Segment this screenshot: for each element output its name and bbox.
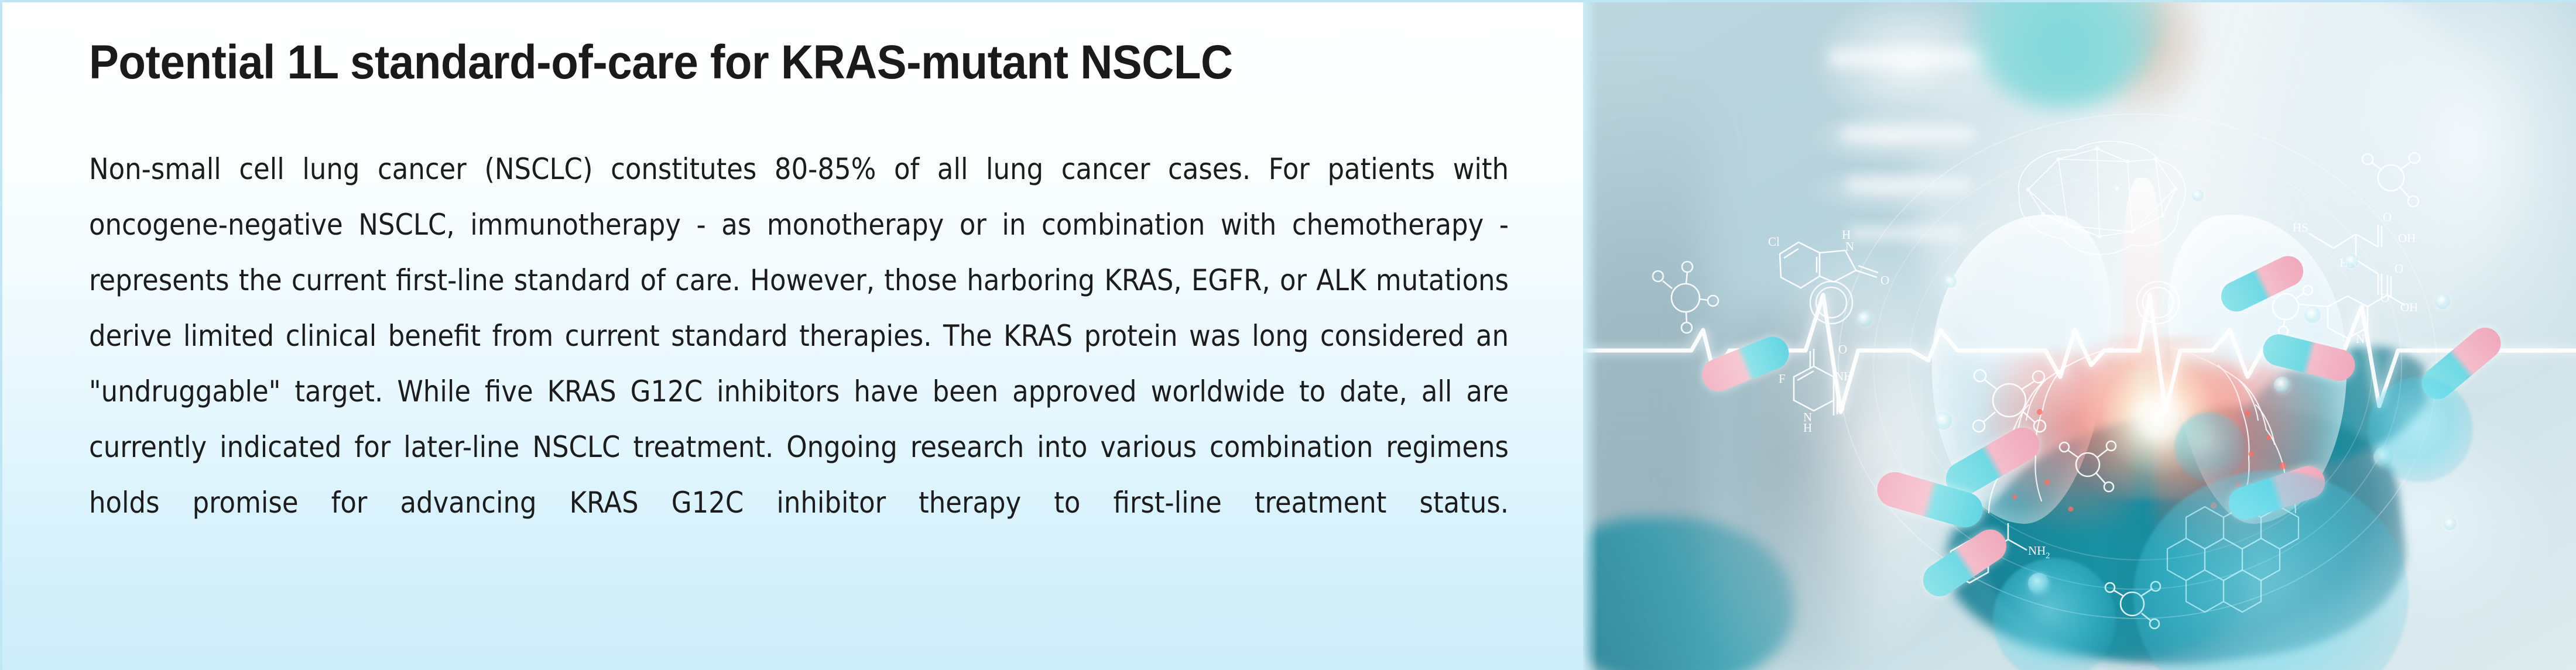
page-title: Potential 1L standard-of-care for KRAS-m… bbox=[89, 39, 1450, 87]
virus-particle bbox=[1857, 311, 1872, 327]
body-paragraph: Non-small cell lung cancer (NSCLC) const… bbox=[89, 142, 1509, 586]
slide-canvas: Potential 1L standard-of-care for KRAS-m… bbox=[0, 0, 2576, 670]
virus-particle bbox=[2444, 517, 2457, 530]
virus-particle bbox=[2192, 190, 2204, 201]
virus-particle-large bbox=[2174, 412, 2245, 482]
virus-particle bbox=[1944, 275, 1957, 288]
virus-particle bbox=[2274, 377, 2290, 393]
virus-particle bbox=[2344, 254, 2358, 268]
virus-particle-large bbox=[2368, 377, 2473, 482]
virus-particles-layer bbox=[1583, 2, 2576, 670]
text-panel: Potential 1L standard-of-care for KRAS-m… bbox=[2, 2, 1583, 670]
virus-particle bbox=[2304, 307, 2321, 323]
virus-particle-large bbox=[1993, 558, 2116, 670]
virus-particle bbox=[1934, 412, 1952, 430]
image-left-edge-fade bbox=[1583, 2, 1598, 670]
virus-particle bbox=[2435, 294, 2450, 309]
clinical-hero-image: Cl H N O F O O NH N H HS O OH HN O OH O … bbox=[1583, 2, 2576, 670]
virus-particle-glow bbox=[2133, 470, 2409, 670]
body-copy: Non-small cell lung cancer (NSCLC) const… bbox=[89, 142, 1509, 586]
